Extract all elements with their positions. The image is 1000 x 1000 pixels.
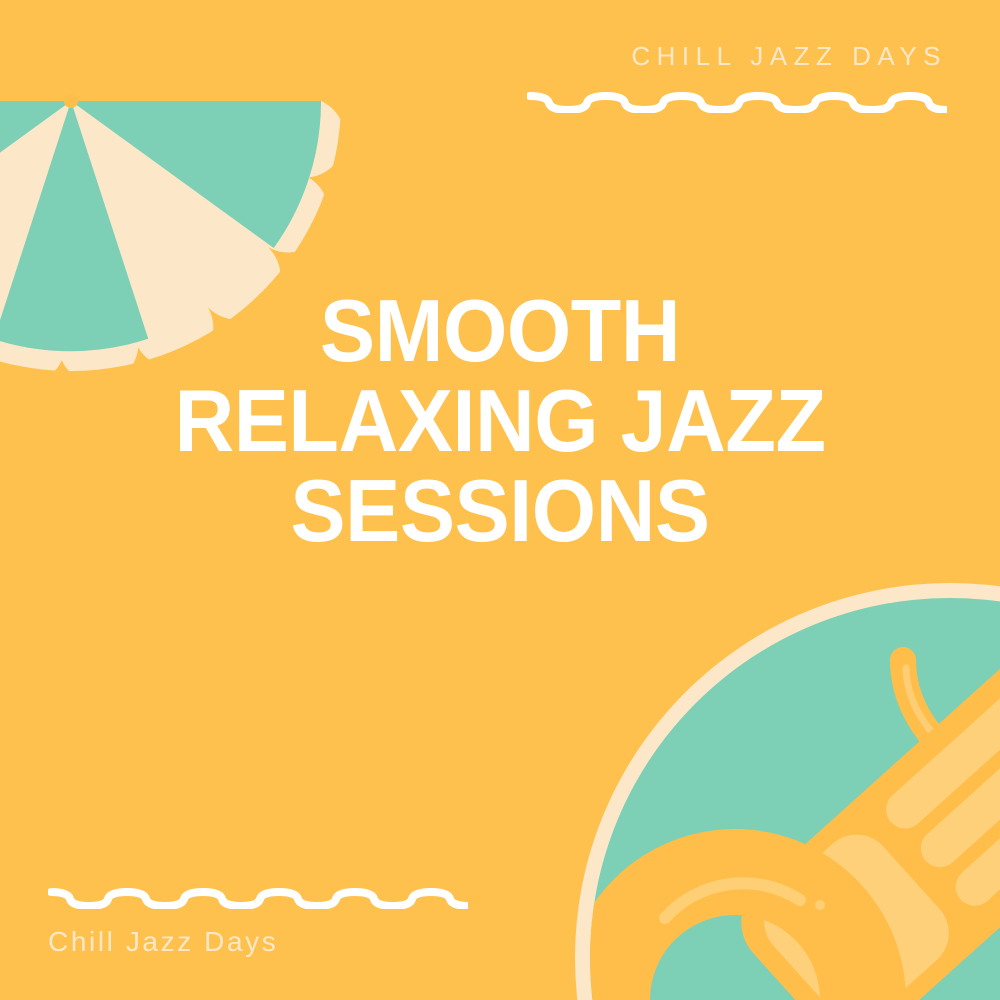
pool-noodle [903,660,1000,784]
album-title: SMOOTH RELAXING JAZZ SESSIONS [0,286,1000,556]
umbrella-hub [64,94,78,108]
top-wavy-divider [527,87,947,113]
title-line-1: SMOOTH [30,286,970,376]
title-line-3: SESSIONS [30,466,970,556]
top-brand-label: CHILL JAZZ DAYS [527,42,947,71]
bottom-brand-block: Chill Jazz Days [48,867,468,958]
bottom-brand-label: Chill Jazz Days [48,927,468,958]
album-cover-artwork: CHILL JAZZ DAYS SMOOTH RELAXING JAZZ SES… [0,0,1000,1000]
bottom-wavy-divider [48,883,468,909]
top-brand-block: CHILL JAZZ DAYS [527,42,947,113]
title-line-2: RELAXING JAZZ [30,376,970,466]
pool-water [590,598,1000,1000]
donut-ring-float [607,872,863,1000]
pool-rim [575,583,1000,1000]
air-mattress-lounger [722,631,1000,1000]
